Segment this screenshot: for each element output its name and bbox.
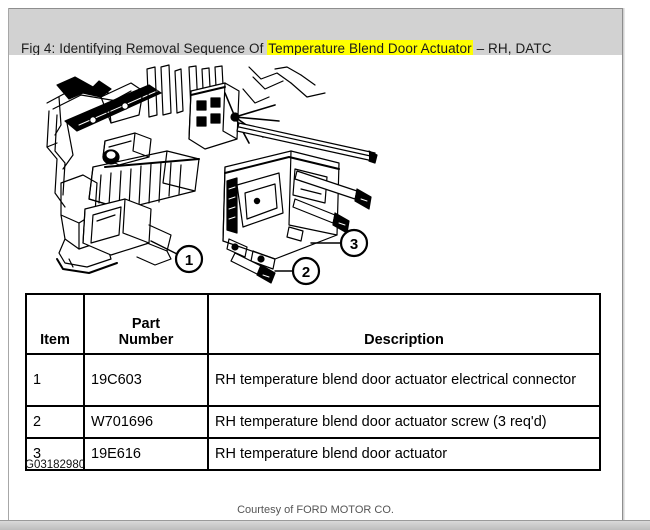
window-chrome-left [0, 0, 8, 530]
parts-table-header: Item Part Number Description [26, 294, 600, 354]
column-header-part-line1: Part [91, 316, 201, 332]
cell-part-number: 19E616 [84, 438, 208, 470]
document-canvas: 1 2 3 Item Part Number Description [9, 55, 622, 521]
window-chrome-right [624, 0, 650, 530]
column-header-item: Item [26, 294, 84, 354]
table-row: 3 19E616 RH temperature blend door actua… [26, 438, 600, 470]
title-suffix: – RH, DATC [473, 41, 552, 56]
page-title: Fig 4: Identifying Removal Sequence Of T… [21, 41, 552, 56]
column-header-part-line2: Number [91, 332, 201, 348]
cell-part-number: 19C603 [84, 354, 208, 406]
callout-3-label: 3 [350, 236, 358, 253]
cell-item: 1 [26, 354, 84, 406]
cell-description: RH temperature blend door actuator elect… [208, 354, 600, 406]
cell-item: 2 [26, 406, 84, 438]
courtesy-notice: Courtesy of FORD MOTOR CO. [9, 504, 622, 516]
cell-part-number: W701696 [84, 406, 208, 438]
window-bottom-bar [0, 521, 650, 530]
title-prefix: Fig 4: Identifying Removal Sequence Of [21, 41, 267, 56]
screenshot-root: Fig 4: Identifying Removal Sequence Of T… [0, 0, 650, 530]
callout-2-label: 2 [302, 264, 310, 281]
figure-illustration: 1 2 3 [39, 63, 384, 293]
callout-1-label: 1 [185, 252, 193, 269]
graphic-code: G03182980 [25, 459, 85, 471]
table-row: 1 19C603 RH temperature blend door actua… [26, 354, 600, 406]
window-chrome-top [0, 0, 650, 8]
figure-title-bar: Fig 4: Identifying Removal Sequence Of T… [9, 9, 622, 55]
window-shadow-right [623, 8, 625, 522]
cell-description: RH temperature blend door actuator [208, 438, 600, 470]
parts-table: Item Part Number Description 1 19C603 RH… [25, 293, 601, 471]
table-header-row: Item Part Number Description [26, 294, 600, 354]
column-header-description: Description [208, 294, 600, 354]
column-header-part-number: Part Number [84, 294, 208, 354]
parts-table-body: 1 19C603 RH temperature blend door actua… [26, 354, 600, 470]
table-row: 2 W701696 RH temperature blend door actu… [26, 406, 600, 438]
cell-description: RH temperature blend door actuator screw… [208, 406, 600, 438]
